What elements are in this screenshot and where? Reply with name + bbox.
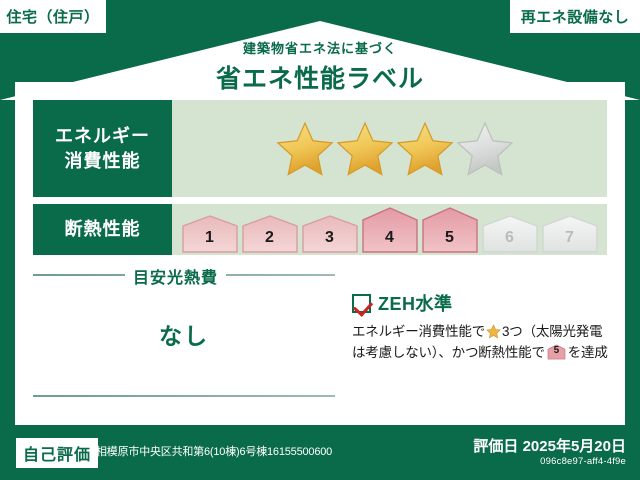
evaluation-date: 評価日 2025年5月20日: [473, 435, 626, 456]
evaluation-id: 096c8e97-aff4-4f9e: [540, 456, 626, 467]
star-icon-filled: [336, 120, 394, 178]
zeh-description: エネルギー消費性能で3つ（太陽光発電は考慮しない）、かつ断熱性能で5を達成: [352, 322, 614, 364]
badge-building-type: 住宅（住戸）: [0, 0, 106, 33]
insulation-house-6: 6: [481, 215, 539, 253]
zeh-header: ZEH水準: [352, 290, 614, 316]
self-evaluation-badge: 自己評価: [16, 438, 98, 468]
star-icon-filled: [396, 120, 454, 178]
cost-divider-bottom: [33, 395, 335, 397]
insulation-level-number: 1: [181, 229, 239, 247]
insulation-level-number: 2: [241, 229, 299, 247]
row-energy-performance: エネルギー 消費性能: [33, 100, 607, 197]
cost-value: なし: [33, 317, 335, 351]
insulation-level-number: 6: [481, 229, 539, 247]
lower-section: 目安光熱費 なし ZEH水準 エネルギー消費性能で3つ（太陽光発電は考慮しない）…: [15, 262, 625, 425]
insulation-house-2: 2: [241, 215, 299, 253]
row-insulation-performance: 断熱性能 1234567: [33, 204, 607, 255]
energy-star-rating: [172, 100, 607, 197]
row-label-energy-line1: エネルギー: [55, 126, 150, 146]
evaluation-date-label: 評価日: [473, 438, 518, 455]
zeh-desc-part3: を達成: [568, 345, 608, 360]
label-frame: 住宅（住戸） 再エネ設備なし 建築物省エネ法に基づく 省エネ性能ラベル エネルギ…: [0, 0, 640, 480]
insulation-level-scale: 1234567: [172, 204, 607, 255]
insulation-house-1: 1: [181, 215, 239, 253]
zeh-block: ZEH水準 エネルギー消費性能で3つ（太陽光発電は考慮しない）、かつ断熱性能で5…: [352, 290, 614, 364]
house-icon-level: 5: [547, 343, 566, 359]
row-label-energy: エネルギー 消費性能: [33, 100, 172, 197]
row-label-energy-line2: 消費性能: [65, 151, 141, 171]
star-icon-filled: [276, 120, 334, 178]
check-icon: [352, 294, 371, 313]
insulation-house-5: 5: [421, 207, 479, 253]
badge-renewable-energy: 再エネ設備なし: [510, 0, 640, 33]
house-icon: 5: [547, 344, 566, 360]
property-address: 相模原市中央区共和第6(10棟)6号棟16155500600: [96, 443, 332, 459]
insulation-house-3: 3: [301, 215, 359, 253]
insulation-house-7: 7: [541, 215, 599, 253]
page-title: 省エネ性能ラベル: [0, 59, 640, 95]
zeh-desc-part2: は考慮しない）、かつ断熱性能で: [352, 345, 545, 360]
insulation-house-4: 4: [361, 207, 419, 253]
insulation-level-number: 3: [301, 229, 359, 247]
label-footer: 自己評価 相模原市中央区共和第6(10棟)6号棟16155500600 評価日 …: [0, 425, 640, 480]
zeh-desc-stars: 3つ（太陽光発電: [502, 324, 602, 339]
star-icon: [486, 324, 501, 339]
label-title-block: 建築物省エネ法に基づく 省エネ性能ラベル: [0, 38, 640, 95]
row-label-insulation: 断熱性能: [33, 204, 172, 255]
star-icon-empty: [456, 120, 514, 178]
zeh-title: ZEH水準: [378, 290, 453, 316]
insulation-level-number: 7: [541, 229, 599, 247]
cost-section-title: 目安光熱費: [125, 264, 226, 288]
evaluation-date-value: 2025年5月20日: [523, 438, 626, 455]
zeh-desc-part1: エネルギー消費性能で: [352, 324, 485, 339]
insulation-level-number: 4: [361, 229, 419, 247]
title-subtitle: 建築物省エネ法に基づく: [0, 38, 640, 57]
insulation-level-number: 5: [421, 229, 479, 247]
